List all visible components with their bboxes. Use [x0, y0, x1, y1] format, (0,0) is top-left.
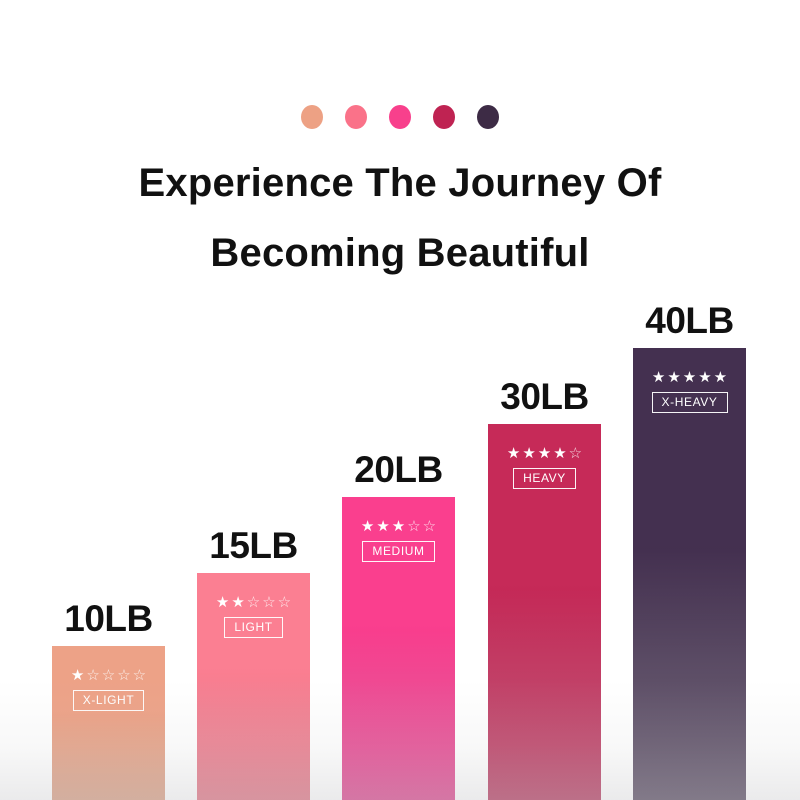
bar-group[interactable]: 10LB★☆☆☆☆X-LIGHT: [52, 0, 165, 800]
bar-bottom-fade: [52, 714, 165, 800]
star-filled-icon: ★: [553, 446, 566, 462]
bar-group[interactable]: 40LB★★★★★X-HEAVY: [633, 0, 746, 800]
star-filled-icon: ★: [71, 668, 84, 684]
bar-bottom-fade: [342, 630, 455, 800]
star-filled-icon: ★: [698, 370, 711, 386]
star-filled-icon: ★: [522, 446, 535, 462]
star-empty-icon: ☆: [262, 595, 275, 611]
star-filled-icon: ★: [361, 519, 374, 535]
star-empty-icon: ☆: [247, 595, 260, 611]
star-empty-icon: ☆: [407, 519, 420, 535]
resistance-level-badge: X-LIGHT: [73, 690, 145, 711]
resistance-level-badge: X-HEAVY: [652, 392, 728, 413]
bar-rating-block: ★★★☆☆MEDIUM: [342, 519, 455, 562]
bar-weight-label: 30LB: [488, 376, 601, 418]
resistance-level-badge: LIGHT: [224, 617, 282, 638]
star-filled-icon: ★: [538, 446, 551, 462]
star-rating: ★★☆☆☆: [216, 595, 291, 611]
promo-banner: Experience The Journey Of Becoming Beaut…: [0, 0, 800, 800]
star-empty-icon: ☆: [133, 668, 146, 684]
star-empty-icon: ☆: [86, 668, 99, 684]
star-filled-icon: ★: [507, 446, 520, 462]
bar-bottom-fade: [197, 673, 310, 800]
bar-group[interactable]: 20LB★★★☆☆MEDIUM: [342, 0, 455, 800]
star-empty-icon: ☆: [569, 446, 582, 462]
star-filled-icon: ★: [392, 519, 405, 535]
bar-weight-label: 15LB: [197, 525, 310, 567]
star-rating: ★★★★☆: [507, 446, 582, 462]
star-filled-icon: ★: [714, 370, 727, 386]
star-filled-icon: ★: [683, 370, 696, 386]
bar-x-heavy[interactable]: [633, 348, 746, 800]
star-filled-icon: ★: [216, 595, 229, 611]
bar-bottom-fade: [488, 589, 601, 800]
bar-rating-block: ★★★★☆HEAVY: [488, 446, 601, 489]
star-rating: ★★★☆☆: [361, 519, 436, 535]
resistance-level-badge: MEDIUM: [362, 541, 434, 562]
bar-group[interactable]: 15LB★★☆☆☆LIGHT: [197, 0, 310, 800]
bar-weight-label: 40LB: [633, 300, 746, 342]
star-rating: ★☆☆☆☆: [71, 668, 146, 684]
bar-bottom-fade: [633, 547, 746, 800]
bar-rating-block: ★★☆☆☆LIGHT: [197, 595, 310, 638]
bar-group[interactable]: 30LB★★★★☆HEAVY: [488, 0, 601, 800]
star-empty-icon: ☆: [278, 595, 291, 611]
bar-rating-block: ★☆☆☆☆X-LIGHT: [52, 668, 165, 711]
bar-rating-block: ★★★★★X-HEAVY: [633, 370, 746, 413]
star-filled-icon: ★: [231, 595, 244, 611]
star-empty-icon: ☆: [423, 519, 436, 535]
star-filled-icon: ★: [652, 370, 665, 386]
star-empty-icon: ☆: [117, 668, 130, 684]
star-empty-icon: ☆: [102, 668, 115, 684]
bar-weight-label: 10LB: [52, 598, 165, 640]
resistance-level-badge: HEAVY: [513, 468, 576, 489]
star-filled-icon: ★: [376, 519, 389, 535]
resistance-band-bar-chart: 10LB★☆☆☆☆X-LIGHT15LB★★☆☆☆LIGHT20LB★★★☆☆M…: [0, 0, 800, 800]
star-rating: ★★★★★: [652, 370, 727, 386]
star-filled-icon: ★: [667, 370, 680, 386]
bar-weight-label: 20LB: [342, 449, 455, 491]
